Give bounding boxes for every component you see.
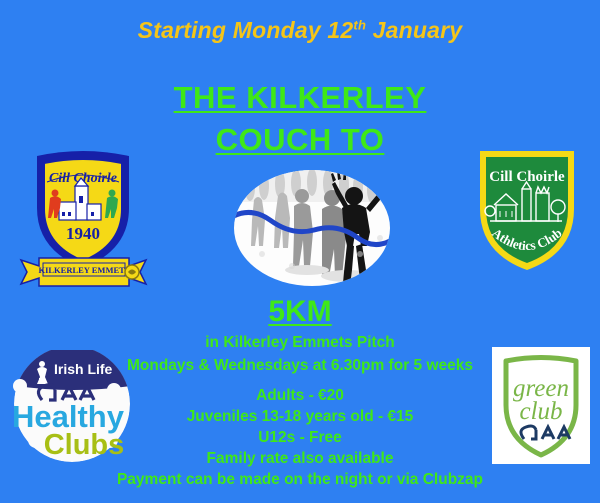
distance-heading: 5KM (0, 295, 600, 329)
cill-choirle-athletics-crest: Cill Choirle Athletics Club (472, 143, 582, 276)
start-date-month: January (366, 17, 462, 43)
club-word: club (519, 398, 562, 425)
gaa-healthy-clubs-logo: Irish Life Healthy Clubs (6, 350, 154, 468)
start-date-heading: Starting Monday 12th January (0, 17, 600, 44)
gaa-green-club-logo: green club (492, 347, 590, 464)
kilkerley-emmets-crest: Cill Choirle 1940 (17, 142, 150, 290)
crest-left-banner: KILKERLEY EMMETS (38, 265, 129, 275)
poster-canvas: Starting Monday 12th January THE KILKERL… (0, 0, 600, 503)
crest-left-year: 1940 (66, 224, 100, 243)
start-date-prefix: Starting Monday 12 (138, 17, 354, 43)
start-date-ordinal: th (353, 17, 366, 32)
detail-payment: Payment can be made on the night or via … (0, 471, 600, 489)
clubs-word: Clubs (44, 429, 125, 461)
runner-illustration (232, 166, 392, 294)
title-line-1: THE KILKERLEY (0, 80, 600, 116)
irish-life-label: Irish Life (54, 361, 113, 377)
